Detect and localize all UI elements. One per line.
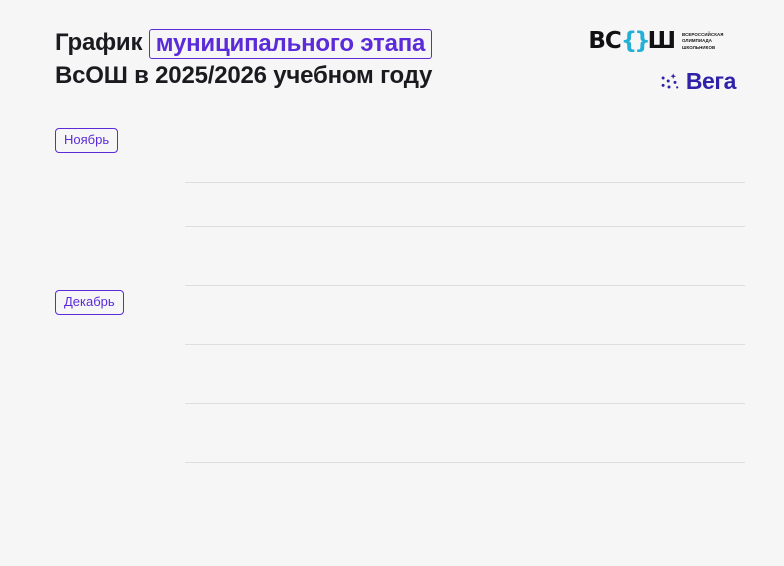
vsosh-wordmark: ВС {} Ш — [588, 30, 675, 53]
page-title-line-2: ВсОШ в 2025/2026 учебном году — [55, 59, 432, 92]
schedule-row — [185, 463, 745, 507]
month-badge: Ноябрь — [55, 128, 118, 153]
schedule-row — [185, 227, 745, 286]
header: График муниципального этапа ВсОШ в 2025/… — [0, 26, 784, 112]
schedule-row — [185, 124, 745, 183]
schedule-row — [185, 404, 745, 463]
vsosh-letters-left: ВС — [588, 30, 620, 53]
vega-logo: Вега — [660, 70, 736, 93]
month-block-2: Декабрь — [0, 286, 784, 507]
vega-wordmark: Вега — [686, 70, 736, 93]
month-badge: Декабрь — [55, 290, 124, 315]
schedule-row — [185, 183, 745, 227]
page-title-highlight: муниципального этапа — [149, 29, 432, 59]
schedule-row — [185, 345, 745, 404]
month-rows — [185, 286, 745, 507]
schedule-calendar: НоябрьДекабрь — [0, 124, 784, 506]
page-title: График муниципального этапа ВсОШ в 2025/… — [55, 26, 432, 92]
vsosh-tagline: Всероссийская олимпиада школьников — [682, 32, 742, 51]
month-block-1: Ноябрь — [0, 124, 784, 286]
vsosh-logo: ВС {} Ш Всероссийская олимпиада школьник… — [588, 30, 742, 53]
page-title-prefix: График — [55, 29, 142, 56]
vsosh-bracket-icon: {} — [621, 30, 648, 53]
dot-cluster-icon — [660, 72, 680, 92]
logo-group: ВС {} Ш Всероссийская олимпиада школьник… — [572, 30, 742, 108]
poster-root: График муниципального этапа ВсОШ в 2025/… — [0, 0, 784, 566]
vsosh-letters-right: Ш — [648, 30, 675, 53]
month-rows — [185, 124, 745, 286]
schedule-row — [185, 286, 745, 345]
page-title-line-1: График муниципального этапа — [55, 26, 432, 59]
